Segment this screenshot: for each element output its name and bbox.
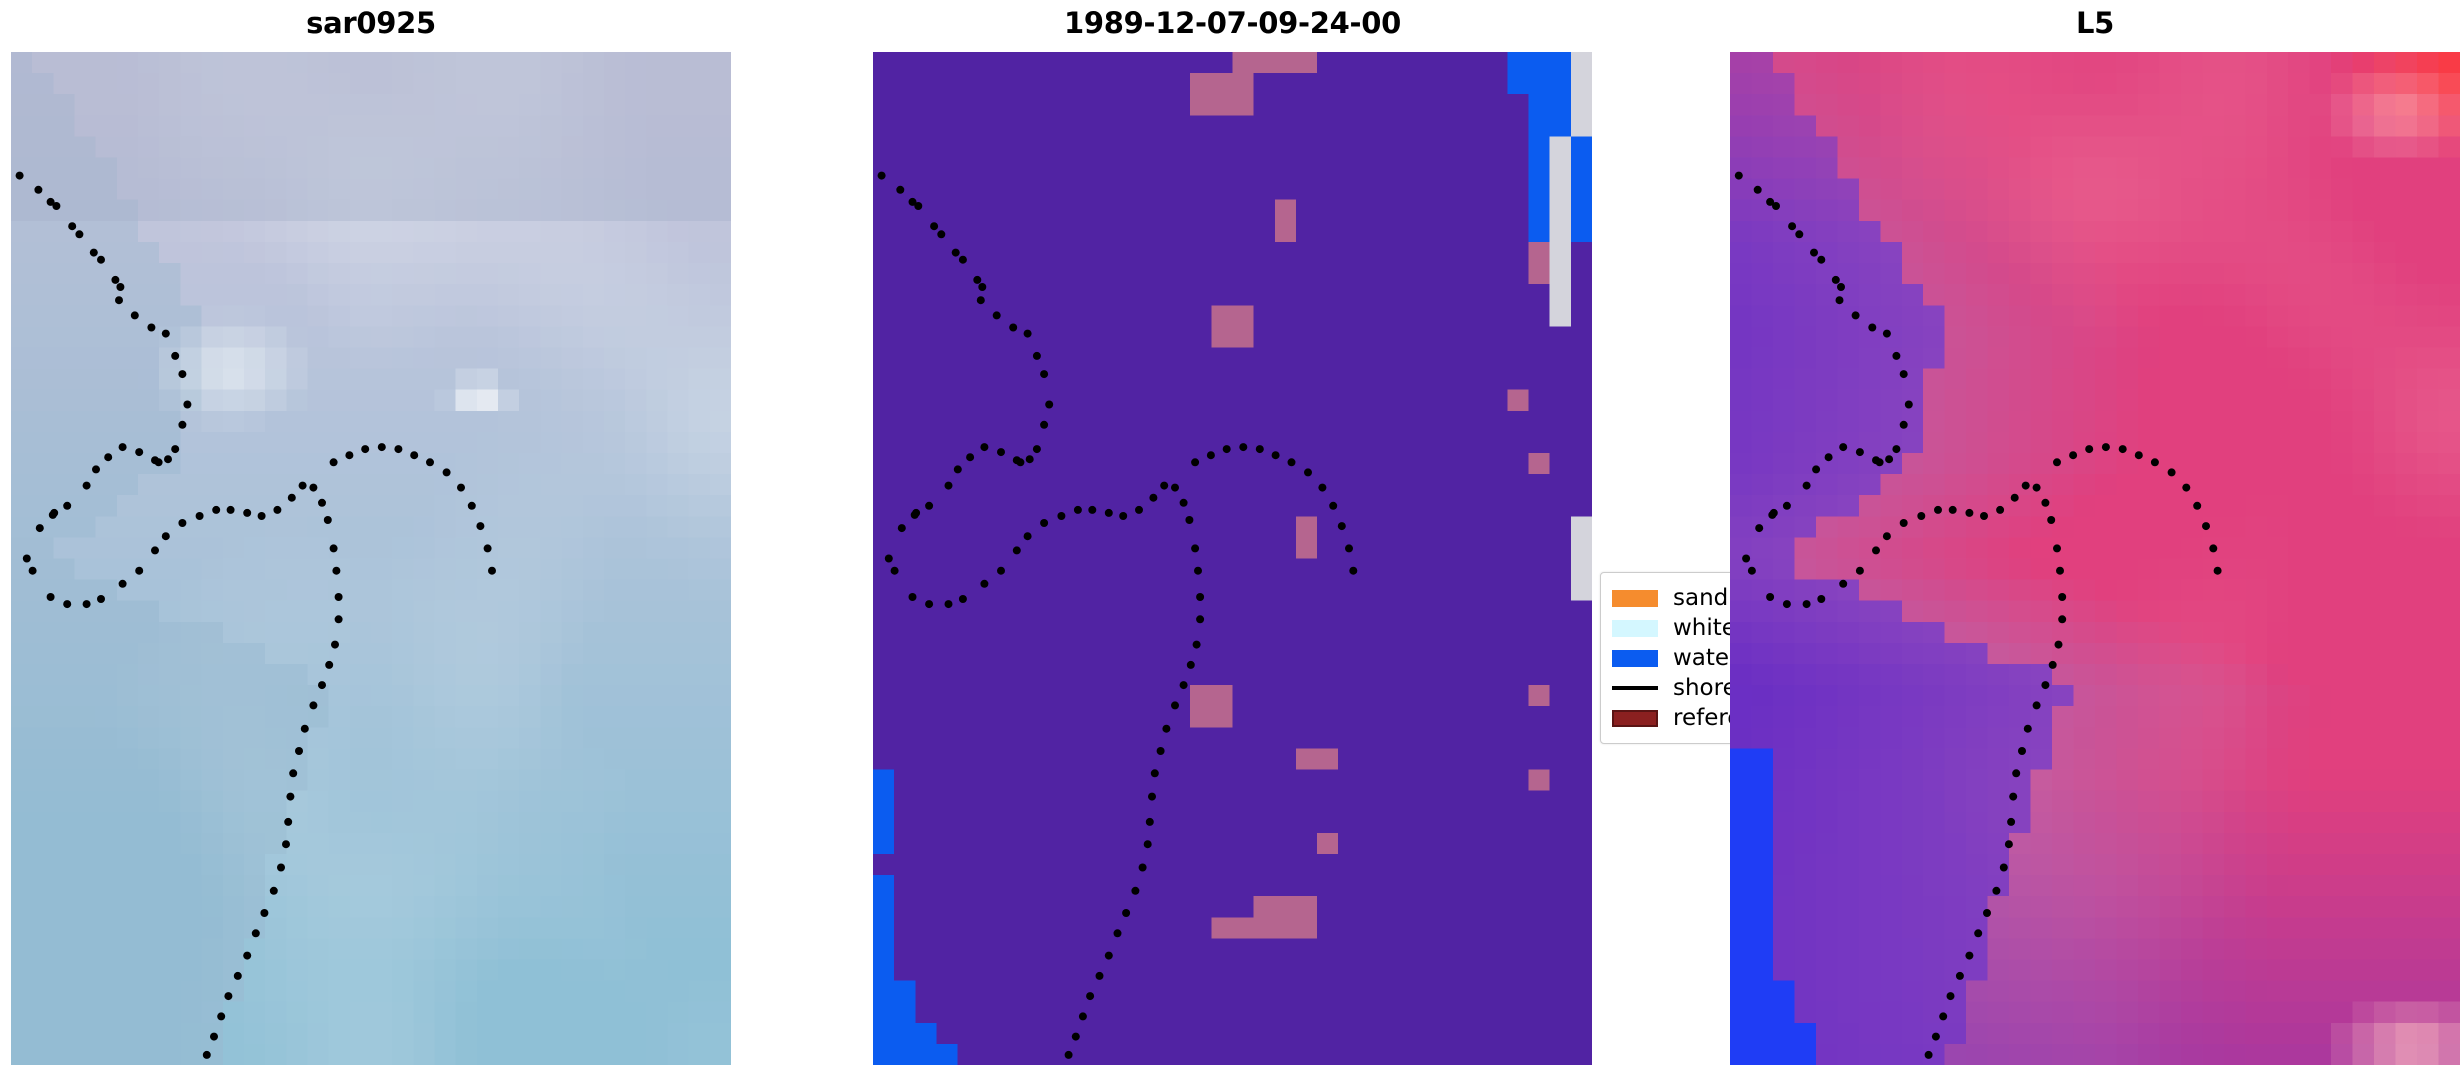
reference-shoreline-swatch (1612, 710, 1658, 727)
figure-canvas: sar0925 1989-12-07-09-24-00 sand whitewa… (0, 0, 2460, 1084)
water-swatch (1612, 650, 1658, 667)
panel-title-classification: 1989-12-07-09-24-00 (873, 6, 1592, 40)
classification-raster-image (873, 52, 1592, 1065)
panel-sar0925[interactable] (11, 52, 731, 1065)
sar-raster-image (11, 52, 731, 1065)
whitewater-swatch (1612, 620, 1658, 637)
legend-label-water: water (1673, 647, 1739, 670)
l5-raster-image (1730, 52, 2460, 1065)
panel-title-sar0925: sar0925 (11, 6, 731, 40)
shoreline-swatch (1612, 686, 1658, 690)
panel-l5[interactable] (1730, 52, 2460, 1065)
panel-classification[interactable] (873, 52, 1592, 1065)
sand-swatch (1612, 590, 1658, 607)
legend-label-sand: sand (1673, 587, 1728, 610)
panel-title-l5: L5 (1730, 6, 2460, 40)
